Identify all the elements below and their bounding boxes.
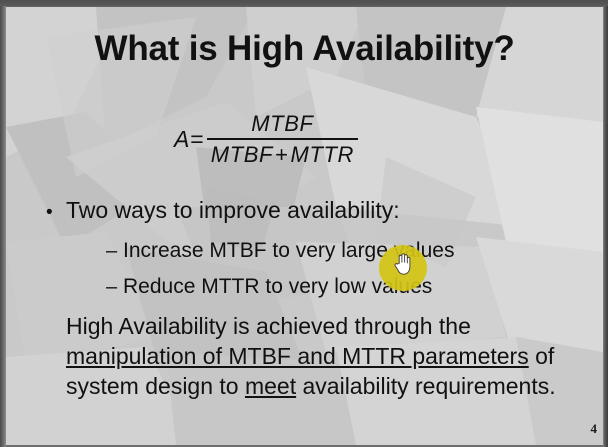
formula-denominator-operator: + — [273, 142, 290, 167]
slide-content: What is High Availability? A= MTBF MTBF+… — [6, 7, 603, 445]
paragraph-underlined-1: manipulation of MTBF and MTTR parameters — [66, 343, 529, 369]
dash-marker-icon: – — [106, 277, 123, 297]
summary-paragraph: High Availability is achieved through th… — [66, 311, 566, 401]
formula-numerator: MTBF — [243, 111, 321, 138]
formula-lhs: A= — [174, 126, 205, 153]
paragraph-underlined-2: meet — [245, 373, 296, 399]
availability-formula: A= MTBF MTBF+MTTR — [174, 111, 358, 168]
window-right-rail — [603, 6, 608, 447]
formula-fraction: MTBF MTBF+MTTR — [207, 111, 358, 168]
paragraph-part-3: availability requirements. — [296, 373, 556, 399]
formula-denominator-left: MTBF — [211, 142, 273, 167]
bullet-marker-icon: • — [46, 203, 66, 222]
click-highlight-halo — [379, 245, 427, 291]
bullet-text: Two ways to improve availability: — [66, 197, 400, 224]
formula-denominator-right: MTTR — [291, 142, 355, 167]
slide-canvas: What is High Availability? A= MTBF MTBF+… — [6, 7, 603, 445]
paragraph-part-1: High Availability is achieved through th… — [66, 313, 471, 339]
page-number: 4 — [591, 421, 598, 437]
formula-denominator: MTBF+MTTR — [207, 140, 358, 168]
presentation-slide-window: What is High Availability? A= MTBF MTBF+… — [0, 0, 608, 447]
bullet-item-level1: • Two ways to improve availability: — [46, 197, 400, 224]
page-title: What is High Availability? — [6, 29, 603, 69]
dash-marker-icon: – — [106, 241, 123, 261]
